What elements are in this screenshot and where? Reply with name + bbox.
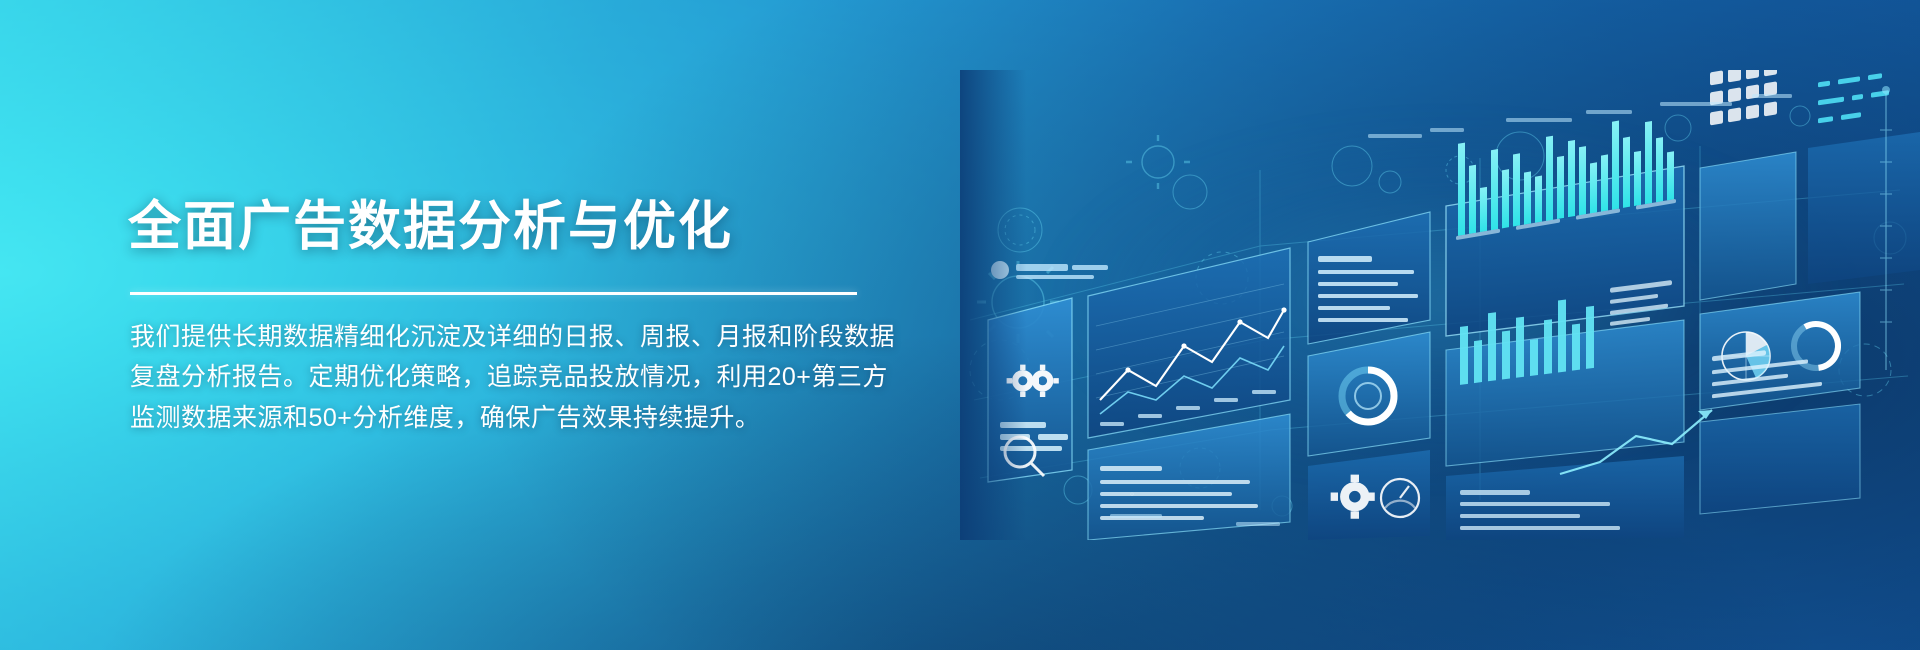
- hud-donut-panel: [1308, 332, 1430, 456]
- hud-pie-panel: [1700, 292, 1860, 410]
- hud-kpi-panel: [1308, 212, 1430, 344]
- description-line-3: 监测数据来源和50+分析维度，确保广告效果持续提升。: [130, 398, 928, 439]
- hud-gear-panel-2: [1308, 450, 1430, 540]
- promo-banner: 全面广告数据分析与优化 我们提供长期数据精细化沉淀及详细的日报、周报、月报和阶段…: [0, 0, 1920, 650]
- description-line-1: 我们提供长期数据精细化沉淀及详细的日报、周报、月报和阶段数据: [130, 317, 928, 358]
- banner-description: 我们提供长期数据精细化沉淀及详细的日报、周报、月报和阶段数据 复盘分析报告。定期…: [130, 317, 928, 439]
- hud-code-panel: [1808, 70, 1920, 284]
- description-line-2: 复盘分析报告。定期优化策略，追踪竞品投放情况，利用20+第三方: [130, 357, 928, 398]
- hud-list-panel: [1446, 456, 1684, 540]
- banner-text-block: 全面广告数据分析与优化 我们提供长期数据精细化沉淀及详细的日报、周报、月报和阶段…: [128, 196, 928, 438]
- title-divider: [130, 292, 857, 295]
- page-title: 全面广告数据分析与优化: [128, 196, 928, 259]
- dashboard-hud-graphic: [960, 70, 1920, 540]
